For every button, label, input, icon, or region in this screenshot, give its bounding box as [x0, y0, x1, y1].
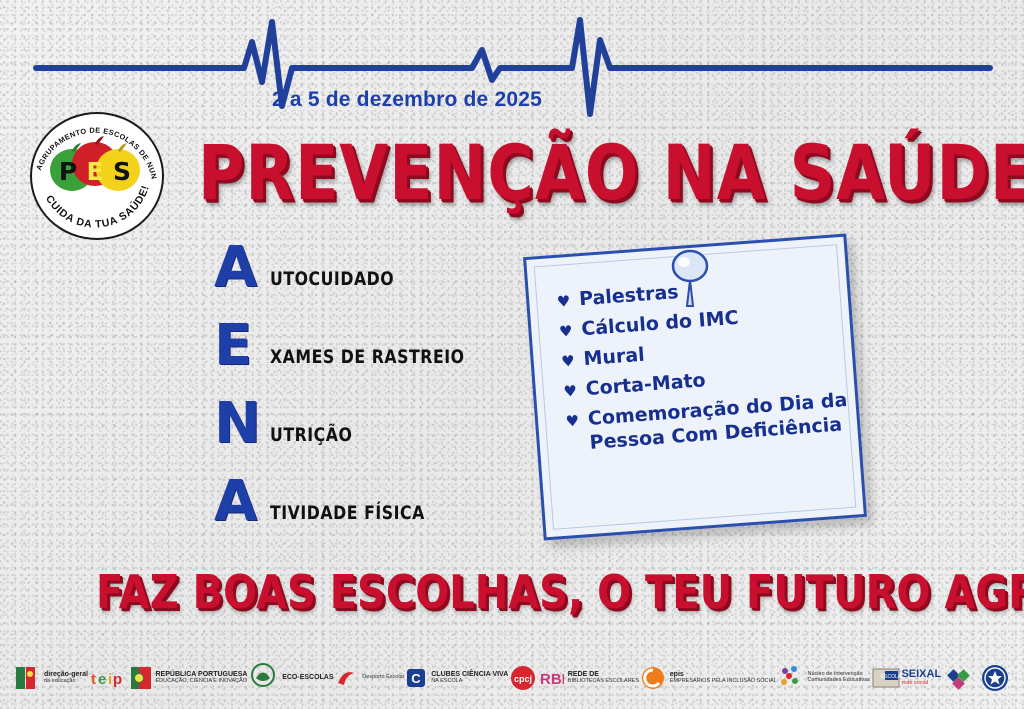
dge-icon [14, 663, 40, 693]
acronym-item-1: A UTOCUIDADO [214, 246, 514, 324]
acronym-word: TIVIDADE FÍSICA [270, 502, 425, 524]
footer-logo-line1: ECO-ESCOLAS [282, 674, 333, 681]
list-item-label: Cálculo do IMC [581, 307, 740, 342]
svg-text:E: E [86, 157, 103, 186]
svg-text:C: C [412, 671, 422, 686]
heart-icon: ♥ [565, 409, 580, 434]
clubes-ciencia-viva-icon: C [405, 666, 427, 690]
epis-icon [640, 665, 666, 691]
footer-logo-desporto-escolar: Desporto Escolar [334, 665, 404, 691]
svg-text:ESCOLA: ESCOLA [881, 674, 901, 680]
svg-text:cpcj: cpcj [514, 674, 532, 684]
cpcj-icon: cpcj [509, 664, 537, 692]
acronym-item-3: N UTRIÇÃO [214, 402, 514, 480]
footer-logo-cpcj: cpcj [509, 664, 537, 692]
acronym-letter: A [214, 474, 257, 530]
footer-logo-clubes-ciencia-viva: C CLUBES CIÊNCIA VIVA NA ESCOLA [405, 666, 508, 690]
svg-text:i: i [108, 671, 112, 688]
heart-icon: ♥ [560, 349, 575, 374]
footer-logo-line2: da educação [44, 679, 88, 685]
footer-logo-escola-embaixadora: ESCOLA [871, 664, 901, 692]
page-title: PREVENÇÃO NA SAÚDE [198, 128, 871, 217]
svg-text:S: S [113, 157, 131, 186]
footer-logo-direcao-geral-da-educacao: direção-geral da educação [14, 663, 88, 693]
pushpin-icon [660, 248, 720, 310]
footer-logo-epis: epis EMPRESÁRIOS PELA INCLUSÃO SOCIAL [640, 665, 777, 691]
svg-text:P: P [59, 157, 77, 186]
list-item-label: Corta-Mato [585, 369, 706, 401]
footer-logo-line2: NA ESCOLA [431, 679, 508, 685]
footer-logo-line2: rede social [901, 681, 941, 687]
heart-icon: ♥ [558, 319, 573, 344]
poster-canvas: AGRUPAMENTO DE ESCOLAS DE NUN'ÁLVARES P … [0, 0, 1024, 709]
footer-logo-line1: Desporto Escolar [362, 675, 404, 681]
acronym-list: A UTOCUIDADO E XAMES DE RASTREIO N UTRIÇ… [214, 246, 514, 558]
nucleo-icon [778, 663, 804, 693]
teip-icon: t e i p [89, 665, 129, 691]
footer-logo-escola-selo [980, 663, 1010, 693]
footer-logo-nucleo-intervencao: Núcleo de Intervenção Comunidades Educat… [778, 663, 870, 693]
acronym-letter: A [214, 240, 257, 296]
svg-text:CUIDA DA TUA SAÚDE!: CUIDA DA TUA SAÚDE! [43, 184, 152, 231]
escola-selo-icon [980, 663, 1010, 693]
footer-logo-line2: EMPRESÁRIOS PELA INCLUSÃO SOCIAL [670, 679, 777, 685]
republica-portuguesa-icon [130, 663, 152, 693]
footer-logo-rede-bibliotecas-escolares: RBE REDE DE BIBLIOTECAS ESCOLARES [538, 666, 639, 690]
svg-text:RBE: RBE [540, 671, 564, 688]
event-date: 2 a 5 de dezembro de 2025 [272, 88, 542, 112]
acronym-word: XAMES DE RASTREIO [270, 346, 465, 368]
slogan: FAZ BOAS ESCOLHAS, O TEU FUTURO AGRADECE… [96, 566, 976, 619]
svg-text:t: t [91, 671, 96, 688]
school-logo: AGRUPAMENTO DE ESCOLAS DE NUN'ÁLVARES P … [24, 108, 176, 240]
footer-logo-republica-portuguesa: REPÚBLICA PORTUGUESA EDUCAÇÃO, CIÊNCIA E… [130, 663, 248, 693]
acronym-item-4: A TIVIDADE FÍSICA [214, 480, 514, 558]
footer-logo-teip: t e i p [89, 665, 129, 691]
seixal-diamonds-icon [945, 665, 979, 691]
acronym-word: UTRIÇÃO [270, 424, 352, 446]
footer-logo-line2: EDUCAÇÃO, CIÊNCIA E INOVAÇÃO [156, 679, 248, 685]
footer-logo-eco-escolas: ECO-ESCOLAS [248, 662, 333, 694]
acronym-letter: E [214, 318, 252, 374]
acronym-word: UTOCUIDADO [270, 268, 394, 290]
acronym-letter: N [214, 396, 261, 452]
footer-logo-line2: BIBLIOTECAS ESCOLARES [568, 679, 639, 685]
heart-icon: ♥ [563, 379, 578, 404]
svg-text:e: e [98, 671, 106, 688]
heart-icon: ♥ [556, 289, 571, 314]
rbe-icon: RBE [538, 666, 564, 690]
footer-logo-strip: direção-geral da educação t e i p REPÚBL… [0, 647, 1024, 709]
svg-text:p: p [113, 671, 122, 688]
desporto-escolar-icon [334, 665, 358, 691]
escola-embaixadora-icon: ESCOLA [871, 664, 901, 692]
eco-escolas-icon [248, 662, 278, 694]
footer-logo-line2: Comunidades Educativas [808, 678, 870, 684]
list-item-label: Mural [583, 344, 646, 372]
footer-logo-seixal-rede-social: SEIXAL rede social [901, 665, 979, 691]
